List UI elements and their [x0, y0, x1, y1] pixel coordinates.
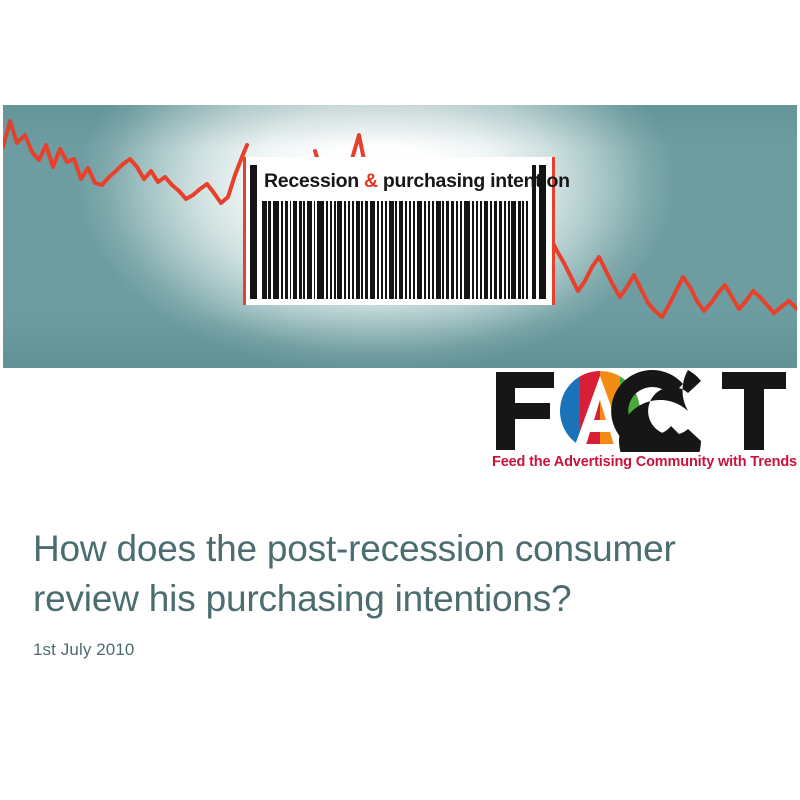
barcode-stripe [365, 201, 368, 299]
title-block: How does the post-recession consumer rev… [33, 524, 753, 660]
barcode-stripe [268, 201, 271, 299]
barcode-stripe [395, 201, 397, 299]
barcode-stripe [356, 201, 360, 299]
barcode-stripe [344, 201, 346, 299]
barcode-stripe [480, 201, 482, 299]
barcode-stripe [326, 201, 329, 299]
barcode-stripe [334, 201, 336, 299]
logo-letter-f [496, 372, 554, 450]
barcode-stripe [442, 201, 444, 299]
barcode-card: Recession & purchasing intention [246, 157, 552, 305]
page-title: How does the post-recession consumer rev… [33, 524, 753, 624]
presentation-slide: Recession & purchasing intention [0, 0, 800, 800]
barcode-stripe [526, 201, 528, 299]
barcode-stripe [484, 201, 489, 299]
barcode-stripe [490, 201, 492, 299]
barcode-stripe [361, 201, 363, 299]
barcode-stripe [494, 201, 497, 299]
barcode-stripe [464, 201, 470, 299]
barcode-stripe [262, 201, 267, 299]
barcode-stripe [460, 201, 462, 299]
fact-tagline: Feed the Advertising Community with Tren… [492, 454, 792, 470]
barcode-stripe [451, 201, 455, 299]
barcode-stripe [381, 201, 384, 299]
barcode-stripe [307, 201, 312, 299]
barcode-stripe [314, 201, 316, 299]
barcode-stripe [436, 201, 441, 299]
logo-letter-t [722, 372, 786, 450]
barcode-headline: Recession & purchasing intention [264, 168, 536, 194]
barcode-stripes [262, 201, 528, 299]
barcode-stripe [352, 201, 354, 299]
barcode-stripe [281, 201, 283, 299]
barcode-stripe [446, 201, 449, 299]
barcode-stripe [337, 201, 342, 299]
barcode-stripe [432, 201, 434, 299]
barcode-stripe [303, 201, 305, 299]
barcode-stripe [377, 201, 379, 299]
barcode-stripe [385, 201, 387, 299]
fact-logo: Feed the Advertising Community with Tren… [492, 370, 792, 478]
barcode-stripe [424, 201, 426, 299]
barcode-stripe [413, 201, 415, 299]
barcode-stripe [370, 201, 376, 299]
barcode-headline-before: Recession [264, 170, 364, 192]
barcode-guard-bar-left [250, 165, 257, 299]
slide-date: 1st July 2010 [33, 640, 753, 660]
barcode-stripe [472, 201, 474, 299]
barcode-stripe [348, 201, 351, 299]
barcode-stripe [290, 201, 292, 299]
barcode-stripe [476, 201, 479, 299]
a-segment-blue [560, 371, 580, 451]
barcode-stripe [511, 201, 516, 299]
barcode-graphic: Recession & purchasing intention [243, 157, 555, 305]
barcode-stripe [273, 201, 279, 299]
barcode-stripe [293, 201, 297, 299]
barcode-stripe [285, 201, 288, 299]
barcode-stripe [405, 201, 408, 299]
barcode-stripe [299, 201, 302, 299]
barcode-headline-after: purchasing intention [378, 170, 570, 192]
barcode-stripe [518, 201, 521, 299]
barcode-stripe [317, 201, 323, 299]
barcode-stripe [504, 201, 506, 299]
barcode-stripe [417, 201, 423, 299]
barcode-stripe [389, 201, 394, 299]
barcode-stripe [330, 201, 332, 299]
barcode-stripe [508, 201, 510, 299]
barcode-stripe [399, 201, 403, 299]
fact-wordmark [492, 370, 792, 452]
barcode-stripe [409, 201, 411, 299]
barcode-stripe [499, 201, 503, 299]
barcode-stripe [456, 201, 458, 299]
barcode-headline-ampersand: & [364, 170, 378, 192]
barcode-stripe [522, 201, 524, 299]
barcode-stripe [428, 201, 431, 299]
